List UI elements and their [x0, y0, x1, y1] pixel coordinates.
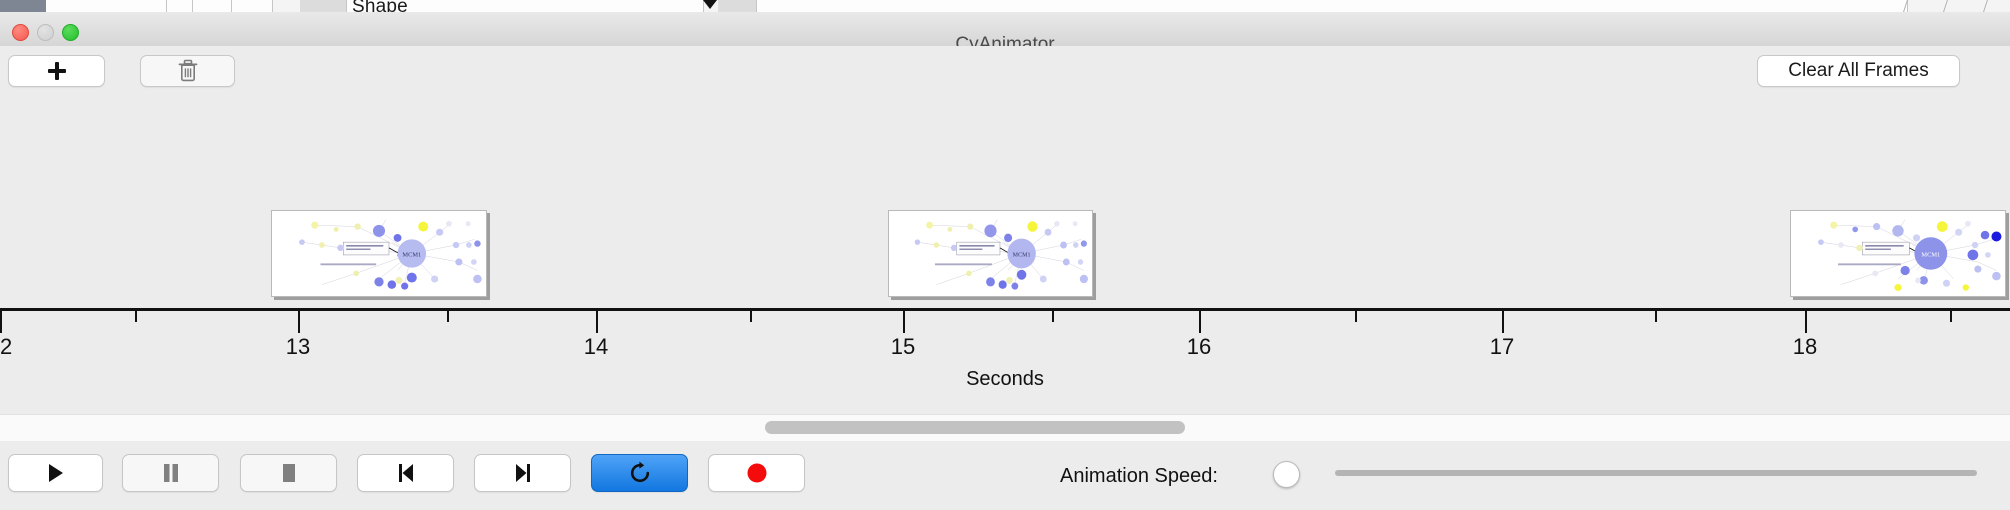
background-caret-icon: [703, 0, 717, 9]
ruler-tick-label: 18: [1793, 334, 1817, 360]
background-segment: [46, 0, 167, 12]
pause-icon: [162, 463, 180, 483]
ruler-tick-label: 15: [891, 334, 915, 360]
animation-speed-slider-thumb[interactable]: [1273, 461, 1300, 488]
network-thumbnail-image: MCM1: [1791, 211, 2005, 296]
background-tab: [0, 0, 46, 12]
ruler-tick-label: 16: [1187, 334, 1211, 360]
background-divider: [1943, 0, 1948, 12]
background-segment: [193, 0, 232, 12]
skip-forward-icon: [514, 463, 532, 483]
ruler-axis-label: Seconds: [0, 368, 2010, 391]
frame-thumbnail[interactable]: MCM1: [271, 210, 487, 297]
clear-all-frames-label: Clear All Frames: [1788, 60, 1928, 82]
cyanimator-window: Shape CyAnimator Clear A: [0, 0, 2010, 510]
ruler-tick-label: 12: [0, 334, 12, 360]
frames-pane[interactable]: MCM1: [0, 91, 2010, 315]
ruler-tick-major: [596, 311, 598, 333]
ruler-tick-major: [1199, 311, 1201, 333]
ruler-tick-major: [298, 311, 300, 333]
previous-frame-button[interactable]: [357, 454, 454, 492]
background-divider: [1983, 0, 1988, 12]
ruler-tick-minor: [1950, 311, 1952, 322]
background-segment: [167, 0, 193, 12]
titlebar: CyAnimator: [0, 12, 2010, 47]
ruler-tick-label: 14: [584, 334, 608, 360]
play-button[interactable]: [8, 454, 103, 492]
ruler-tick-label: 17: [1490, 334, 1514, 360]
delete-frame-button[interactable]: [140, 55, 235, 87]
ruler-tick-label: 13: [286, 334, 310, 360]
ruler-tick-major: [1805, 311, 1807, 333]
network-thumbnail-image: MCM1: [272, 211, 486, 296]
skip-back-icon: [397, 463, 415, 483]
record-button[interactable]: [708, 454, 805, 492]
next-frame-button[interactable]: [474, 454, 571, 492]
loop-icon: [628, 461, 652, 485]
toolbar: Clear All Frames: [0, 46, 2010, 92]
horizontal-scrollbar[interactable]: [0, 414, 2010, 442]
playback-controls: Animation Speed:: [0, 441, 2010, 510]
ruler-tick-major: [0, 311, 2, 333]
record-icon: [746, 462, 768, 484]
animation-speed-label: Animation Speed:: [1060, 465, 1218, 488]
play-icon: [47, 463, 65, 483]
trash-icon: [177, 59, 199, 83]
background-segment: [718, 0, 757, 12]
ruler-tick-minor: [1052, 311, 1054, 322]
ruler-tick-minor: [447, 311, 449, 322]
loop-button[interactable]: [591, 454, 688, 492]
add-frame-button[interactable]: [8, 55, 105, 87]
timeline-ruler[interactable]: 12131415161718 Seconds: [0, 308, 2010, 404]
ruler-tick-major: [1502, 311, 1504, 333]
pause-button[interactable]: [122, 454, 219, 492]
scrollbar-thumb[interactable]: [765, 421, 1185, 434]
background-segment: [757, 0, 1908, 12]
ruler-tick-minor: [750, 311, 752, 322]
animation-speed-slider[interactable]: [1335, 470, 1977, 476]
background-segment: [232, 0, 273, 12]
svg-text:MCM1: MCM1: [1921, 251, 1940, 258]
svg-text:MCM1: MCM1: [1013, 251, 1031, 258]
ruler-baseline: [0, 308, 2010, 311]
svg-text:MCM1: MCM1: [402, 251, 421, 258]
ruler-tick-minor: [1655, 311, 1657, 322]
ruler-tick-minor: [1355, 311, 1357, 322]
ruler-tick-minor: [135, 311, 137, 322]
ruler-tick-major: [903, 311, 905, 333]
stop-button[interactable]: [240, 454, 337, 492]
frame-thumbnail[interactable]: MCM1: [888, 210, 1093, 297]
plus-icon: [48, 62, 66, 80]
clear-all-frames-button[interactable]: Clear All Frames: [1757, 55, 1960, 87]
network-thumbnail-image: MCM1: [889, 211, 1092, 296]
background-segment: [300, 0, 347, 12]
frame-thumbnail[interactable]: MCM1: [1790, 210, 2006, 297]
stop-icon: [280, 463, 298, 483]
